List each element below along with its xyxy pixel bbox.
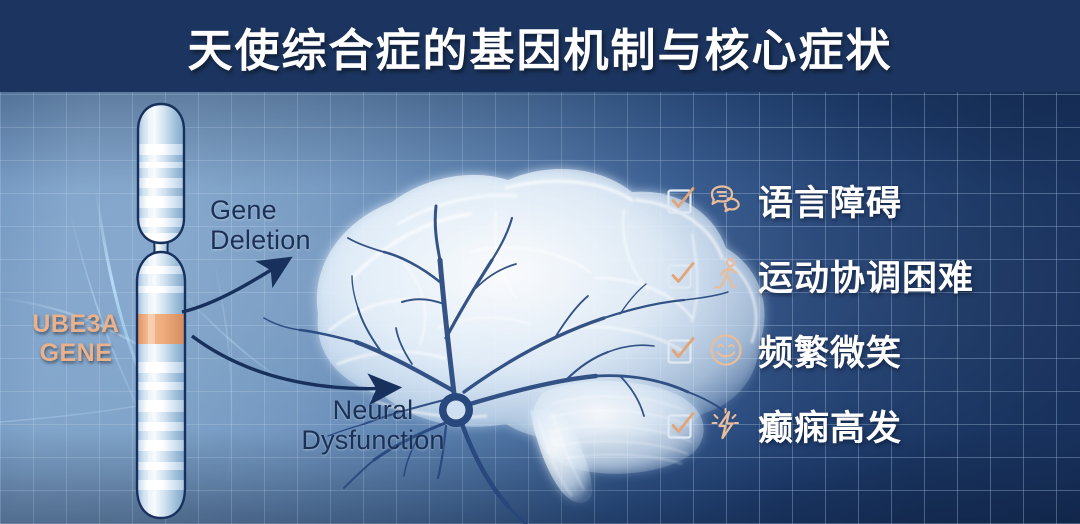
arrow-neural-dysfunction — [192, 336, 392, 389]
checkbox-motor[interactable] — [666, 261, 695, 290]
gene-label-line2: GENE — [20, 339, 132, 368]
gene-deletion-line1: Gene — [210, 195, 311, 225]
gene-label: UBE3A GENE — [20, 310, 132, 367]
symptom-label-motor: 运动协调困难 — [758, 250, 974, 301]
symptom-row-motor[interactable]: 运动协调困难 — [666, 247, 1070, 303]
lightning-bolt-icon — [706, 405, 746, 445]
running-person-icon — [706, 255, 746, 295]
checkbox-speech[interactable] — [666, 186, 695, 215]
symptom-label-smile: 频繁微笑 — [758, 325, 902, 376]
checkbox-epilepsy[interactable] — [666, 411, 695, 440]
neural-dysfunction-line2: Dysfunction — [288, 425, 458, 455]
symptom-list: 语言障碍 — [666, 172, 1070, 472]
label-gene-deletion: Gene Deletion — [210, 195, 311, 255]
gene-label-line1: UBE3A — [20, 310, 132, 339]
checkbox-smile[interactable] — [666, 336, 695, 365]
arrow-gene-deletion — [182, 262, 284, 312]
page-title: 天使综合症的基因机制与核心症状 — [187, 14, 892, 79]
symptom-row-smile[interactable]: 频繁微笑 — [666, 322, 1070, 378]
diagram-stage: UBE3A GENE Gene Deletion Neural Dysfunct… — [0, 92, 1080, 524]
symptom-label-speech: 语言障碍 — [758, 175, 902, 226]
poster-header: 天使综合症的基因机制与核心症状 — [0, 0, 1080, 92]
speech-bubble-icon — [706, 180, 746, 220]
symptom-label-epilepsy: 癫痫高发 — [758, 400, 902, 451]
smiley-face-icon — [706, 330, 746, 370]
symptom-row-epilepsy[interactable]: 癫痫高发 — [666, 397, 1070, 453]
infographic-poster: 天使综合症的基因机制与核心症状 — [0, 0, 1080, 524]
gene-deletion-line2: Deletion — [210, 225, 311, 255]
label-neural-dysfunction: Neural Dysfunction — [288, 395, 458, 455]
neural-dysfunction-line1: Neural — [288, 395, 458, 425]
symptom-row-speech[interactable]: 语言障碍 — [666, 172, 1070, 228]
